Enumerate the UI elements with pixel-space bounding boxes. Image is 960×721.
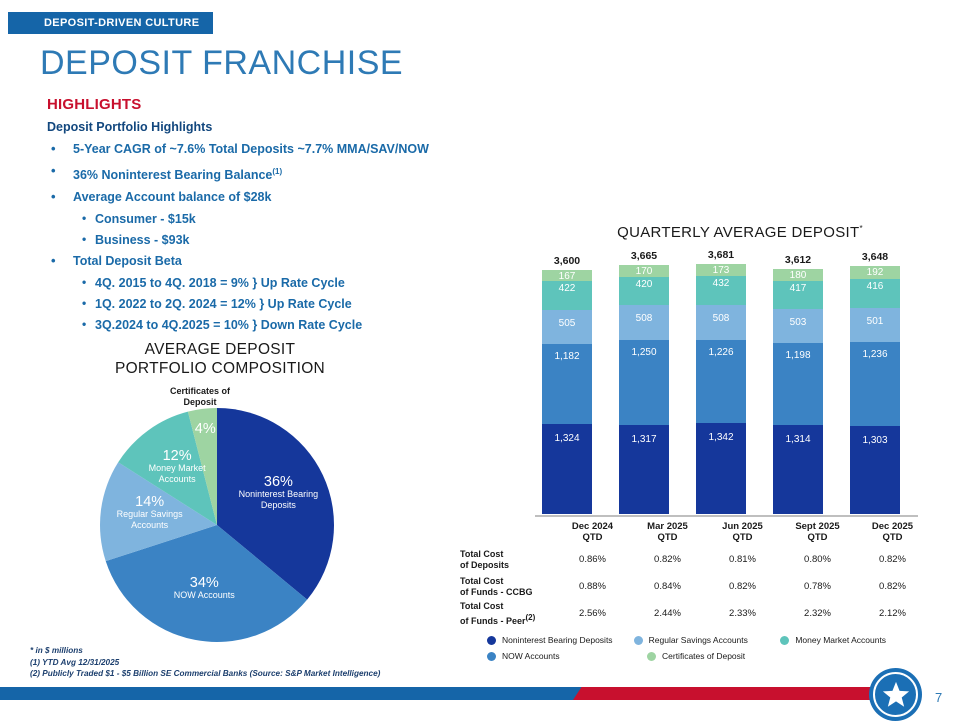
legend-label: Certificates of Deposit: [662, 651, 745, 661]
table-column-header: Mar 2025QTD: [630, 521, 705, 543]
bar-segment-label: 1,317: [631, 434, 656, 445]
table-cell: 0.82%: [855, 581, 930, 592]
legend-label: Money Market Accounts: [795, 635, 886, 645]
table-cell: 0.82%: [630, 554, 705, 565]
chart-legend: Noninterest Bearing DepositsRegular Savi…: [487, 632, 927, 664]
table-column-header: Jun 2025QTD: [705, 521, 780, 543]
bar-total-label: 3,681: [684, 249, 758, 261]
bar-column: 3,6651704205081,2501,317: [619, 265, 669, 514]
table-row-header: Total Costof Funds - Peer(2): [450, 601, 555, 627]
legend-row: NOW AccountsCertificates of Deposit: [487, 648, 927, 664]
bar-segment-label: 508: [636, 313, 653, 324]
bar-segment: 508: [619, 305, 669, 340]
bar-segment-label: 192: [867, 267, 884, 278]
highlight-bullet: 5-Year CAGR of ~7.6% Total Deposits ~7.7…: [40, 139, 470, 160]
bar-segment: 1,250: [619, 340, 669, 425]
pie-slice-percent: 34%: [145, 578, 263, 589]
table-column-header: Dec 2025QTD: [855, 521, 930, 543]
table-cell: 2.12%: [855, 608, 930, 619]
bar-total-label: 3,665: [607, 250, 681, 262]
highlight-bullet-text: 3Q.2024 to 4Q.2025 = 10% } Down Rate Cyc…: [95, 318, 362, 332]
bar-total-label: 3,648: [838, 251, 912, 263]
bar-segment-label: 1,182: [554, 351, 579, 362]
pie-slice-percent: 14%: [91, 497, 209, 508]
pie-slice-label: 4%: [146, 424, 264, 436]
legend-color-swatch-icon: [647, 652, 656, 661]
bar-segment-label: 1,226: [708, 347, 733, 358]
page-number: 7: [935, 690, 942, 705]
table-cell: 0.78%: [780, 581, 855, 592]
highlight-bullet: Total Deposit Beta: [40, 251, 470, 272]
bar-column: 3,6121804175031,1981,314: [773, 269, 823, 514]
footnotes: * in $ millions(1) YTD Avg 12/31/2025(2)…: [30, 645, 380, 680]
pie-slice-label: 34%NOW Accounts: [145, 578, 263, 601]
pie-slice-name: Regular Savings: [91, 509, 209, 520]
table-row-header-line1: Total Cost: [460, 549, 503, 559]
bar-segment: 503: [773, 309, 823, 343]
bar-segment-label: 503: [790, 317, 807, 328]
bar-title-superscript: *: [859, 224, 862, 233]
bar-segment: 416: [850, 279, 900, 307]
legend-label: Regular Savings Accounts: [649, 635, 748, 645]
table-cell: 2.32%: [780, 608, 855, 619]
bar-total-label: 3,612: [761, 254, 835, 266]
table-column-header: Sept 2025QTD: [780, 521, 855, 543]
bar-segment: 420: [619, 277, 669, 306]
table-cell: 0.84%: [630, 581, 705, 592]
table-column-header-period: Jun 2025: [722, 521, 763, 532]
bar-chart: 3,6001674225051,1821,3243,6651704205081,…: [535, 252, 930, 517]
bar-segment-label: 173: [713, 265, 730, 276]
table-column-header-qtd: QTD: [582, 532, 602, 543]
table-cell: 0.82%: [705, 581, 780, 592]
bar-segment: 1,342: [696, 423, 746, 514]
bar-column: 3,6811734325081,2261,342: [696, 264, 746, 514]
legend-item: Money Market Accounts: [780, 635, 927, 645]
bar-segment-label: 432: [713, 278, 730, 289]
pie-title-line2: PORTFOLIO COMPOSITION: [115, 360, 325, 377]
table-row-header-line2: of Funds - Peer: [460, 616, 526, 626]
bar-segment-label: 1,324: [554, 433, 579, 444]
bar-segment-label: 508: [713, 313, 730, 324]
bar-segment-label: 1,236: [862, 349, 887, 360]
pie-chart-title: AVERAGE DEPOSIT PORTFOLIO COMPOSITION: [70, 340, 370, 378]
table-cell: 2.33%: [705, 608, 780, 619]
pie-slice-name: Money Market: [118, 463, 236, 474]
table-row-header-line1: Total Cost: [460, 601, 503, 611]
footnote-line: * in $ millions: [30, 645, 380, 657]
legend-color-swatch-icon: [487, 652, 496, 661]
bar-segment: 508: [696, 305, 746, 340]
bar-segment: 1,324: [542, 424, 592, 514]
bar-segment: 1,314: [773, 425, 823, 514]
table-cell: 2.44%: [630, 608, 705, 619]
legend-item: Noninterest Bearing Deposits: [487, 635, 634, 645]
pie-slice-percent: 12%: [118, 451, 236, 462]
highlight-bullet-text: 4Q. 2015 to 4Q. 2018 = 9% } Up Rate Cycl…: [95, 276, 345, 290]
highlight-bullet: 36% Noninterest Bearing Balance(1): [40, 161, 470, 186]
slide: DEPOSIT-DRIVEN CULTURE DEPOSIT FRANCHISE…: [0, 0, 960, 720]
legend-item: Regular Savings Accounts: [634, 635, 781, 645]
table-row-header: Total Costof Funds - CCBG: [450, 576, 555, 598]
bar-segment: 505: [542, 310, 592, 344]
highlight-bullet-text: 5-Year CAGR of ~7.6% Total Deposits ~7.7…: [73, 142, 429, 156]
pie-slice-name: NOW Accounts: [145, 590, 263, 601]
footer-bar-red: [573, 687, 913, 700]
table-column-header-qtd: QTD: [807, 532, 827, 543]
pie-slice-name: Accounts: [91, 520, 209, 531]
pie-chart: 36%Noninterest BearingDeposits34%NOW Acc…: [80, 388, 360, 660]
bar-segment: 1,236: [850, 342, 900, 426]
table-row-header-line1: Total Cost: [460, 576, 503, 586]
bar-segment-label: 417: [790, 283, 807, 294]
highlight-bullet: 1Q. 2022 to 2Q. 2024 = 12% } Up Rate Cyc…: [40, 294, 470, 315]
bar-segment: 422: [542, 281, 592, 310]
bar-segment: 170: [619, 265, 669, 277]
footnote-line: (2) Publicly Traded $1 - $5 Billion SE C…: [30, 668, 380, 680]
pie-slice-percent: 36%: [219, 477, 337, 488]
bar-segment: 167: [542, 270, 592, 281]
table-column-header-period: Sept 2025: [795, 521, 839, 532]
bar-segment-label: 501: [867, 316, 884, 327]
legend-label: NOW Accounts: [502, 651, 560, 661]
company-logo: [869, 668, 922, 721]
table-cell: 0.82%: [855, 554, 930, 565]
legend-item: Certificates of Deposit: [647, 651, 807, 661]
bar-segment: 417: [773, 281, 823, 309]
table-row: Total Costof Funds - Peer(2)2.56%2.44%2.…: [450, 600, 930, 627]
pie-title-line1: AVERAGE DEPOSIT: [145, 341, 296, 358]
table-column-header-qtd: QTD: [732, 532, 752, 543]
highlight-bullet-text: 36% Noninterest Bearing Balance: [73, 168, 272, 182]
table-cell: 0.86%: [555, 554, 630, 565]
legend-item: NOW Accounts: [487, 651, 647, 661]
highlight-bullet: Average Account balance of $28k: [40, 187, 470, 208]
legend-label: Noninterest Bearing Deposits: [502, 635, 613, 645]
pie-slice-percent: 4%: [146, 424, 264, 435]
highlights-heading: HIGHLIGHTS: [47, 96, 142, 113]
highlight-bullet-text: Business - $93k: [95, 233, 190, 247]
bar-segment: 1,317: [619, 425, 669, 514]
table-row-header-line2: of Funds - CCBG: [460, 587, 533, 597]
bar-segment-label: 420: [636, 279, 653, 290]
bar-segment-label: 167: [559, 271, 576, 281]
highlight-bullet-text: 1Q. 2022 to 2Q. 2024 = 12% } Up Rate Cyc…: [95, 297, 352, 311]
bar-title-text: QUARTERLY AVERAGE DEPOSIT: [617, 224, 859, 241]
table-column-header-qtd: QTD: [657, 532, 677, 543]
highlight-bullet: Business - $93k: [40, 230, 470, 251]
pie-slice-label: 14%Regular SavingsAccounts: [91, 497, 209, 531]
footnote-line: (1) YTD Avg 12/31/2025: [30, 657, 380, 669]
bar-segment-label: 1,303: [862, 435, 887, 446]
bar-column: 3,6481924165011,2361,303: [850, 266, 900, 514]
table-row: Total Costof Deposits0.86%0.82%0.81%0.80…: [450, 546, 930, 573]
table-cell: 0.80%: [780, 554, 855, 565]
highlights-subheading: Deposit Portfolio Highlights: [47, 120, 212, 134]
bar-segment-label: 1,342: [708, 432, 733, 443]
bar-segment: 1,198: [773, 343, 823, 424]
highlight-bullet-text: Total Deposit Beta: [73, 254, 182, 268]
legend-color-swatch-icon: [780, 636, 789, 645]
pie-slice-name: Accounts: [118, 474, 236, 485]
table-column-header-qtd: QTD: [882, 532, 902, 543]
bar-segment: 1,226: [696, 340, 746, 423]
table-column-header: Dec 2024QTD: [555, 521, 630, 543]
bar-segment: 180: [773, 269, 823, 281]
logo-ring: [873, 672, 918, 717]
highlight-bullet: Consumer - $15k: [40, 209, 470, 230]
table-cell: 0.81%: [705, 554, 780, 565]
bar-segment: 1,303: [850, 426, 900, 514]
table-cell: 2.56%: [555, 608, 630, 619]
bar-segment: 501: [850, 308, 900, 342]
kicker-banner: DEPOSIT-DRIVEN CULTURE: [8, 12, 213, 34]
cost-table: Dec 2024QTDMar 2025QTDJun 2025QTDSept 20…: [450, 518, 930, 627]
star-icon: [881, 680, 911, 710]
bar-total-label: 3,600: [530, 255, 604, 267]
table-header-row: Dec 2024QTDMar 2025QTDJun 2025QTDSept 20…: [450, 518, 930, 546]
pie-slice-name: Deposits: [219, 500, 337, 511]
table-column-header-period: Dec 2024: [572, 521, 613, 532]
bar-segment-label: 1,198: [785, 350, 810, 361]
pie-slice-name: Noninterest Bearing: [219, 489, 337, 500]
highlight-bullet: 4Q. 2015 to 4Q. 2018 = 9% } Up Rate Cycl…: [40, 273, 470, 294]
table-column-header-period: Dec 2025: [872, 521, 913, 532]
table-cell: 0.88%: [555, 581, 630, 592]
highlights-bullet-list: 5-Year CAGR of ~7.6% Total Deposits ~7.7…: [40, 139, 470, 336]
bar-segment: 1,182: [542, 344, 592, 424]
bar-segment-label: 505: [559, 318, 576, 329]
bar-segment: 432: [696, 276, 746, 305]
pie-slice-label: 36%Noninterest BearingDeposits: [219, 477, 337, 511]
table-column-header-period: Mar 2025: [647, 521, 688, 532]
bar-segment: 173: [696, 264, 746, 276]
bar-column: 3,6001674225051,1821,324: [542, 270, 592, 514]
footnote-marker: (2): [526, 613, 536, 622]
kicker-text: DEPOSIT-DRIVEN CULTURE: [44, 17, 199, 29]
bar-chart-title: QUARTERLY AVERAGE DEPOSIT*: [540, 224, 940, 241]
bar-segment-label: 1,314: [785, 434, 810, 445]
legend-color-swatch-icon: [487, 636, 496, 645]
bar-segment-label: 170: [636, 266, 653, 277]
highlight-bullet-text: Consumer - $15k: [95, 212, 196, 226]
bar-segment-label: 180: [790, 270, 807, 281]
highlight-bullet-text: Average Account balance of $28k: [73, 190, 271, 204]
table-row: Total Costof Funds - CCBG0.88%0.84%0.82%…: [450, 573, 930, 600]
bar-chart-axis-line: [535, 515, 918, 517]
page-title: DEPOSIT FRANCHISE: [40, 44, 403, 83]
bar-segment-label: 1,250: [631, 347, 656, 358]
footnote-marker: (1): [272, 167, 282, 176]
bar-segment-label: 422: [559, 283, 576, 294]
pie-slice-label: 12%Money MarketAccounts: [118, 451, 236, 485]
bar-segment-label: 416: [867, 281, 884, 292]
table-row-header-line2: of Deposits: [460, 560, 509, 570]
highlight-bullet: 3Q.2024 to 4Q.2025 = 10% } Down Rate Cyc…: [40, 315, 470, 336]
legend-row: Noninterest Bearing DepositsRegular Savi…: [487, 632, 927, 648]
legend-color-swatch-icon: [634, 636, 643, 645]
bar-segment: 192: [850, 266, 900, 279]
table-row-header: Total Costof Deposits: [450, 549, 555, 571]
